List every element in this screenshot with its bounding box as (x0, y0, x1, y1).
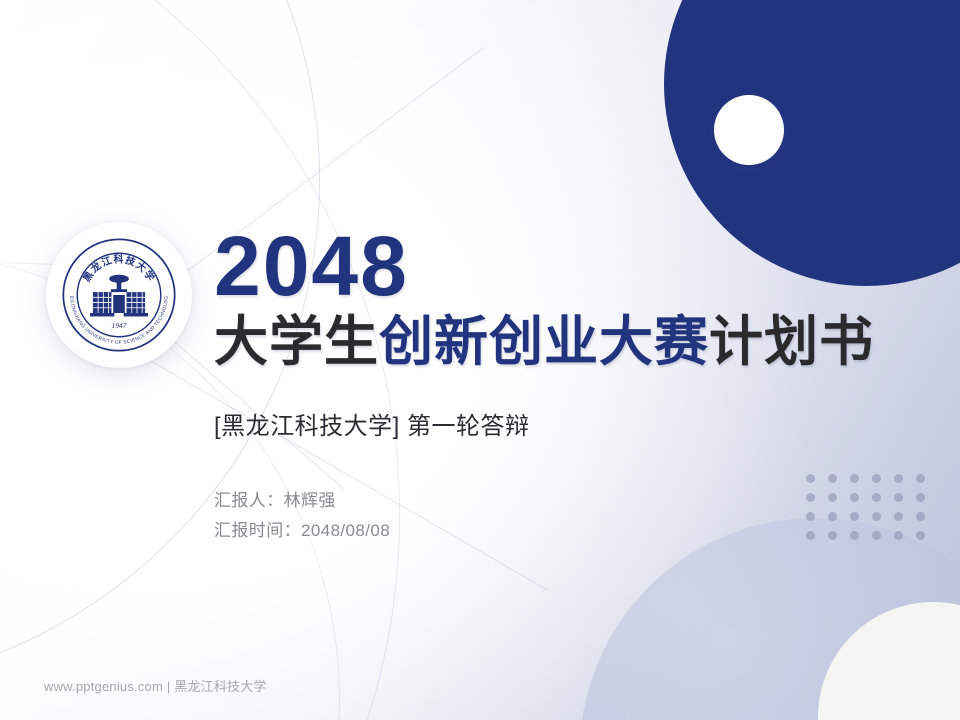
slide-footer: www.pptgenius.com | 黑龙江科技大学 (44, 676, 267, 695)
presentation-slide: 黑龙江科技大学 HEILONGJIANG UNIVERSITY OF SCIEN… (0, 0, 960, 720)
slide-subtitle: [黑龙江科技大学] 第一轮答辩 (214, 406, 530, 441)
presenter-line: 汇报人：林辉强 (214, 486, 390, 516)
slide-meta: 汇报人：林辉强 汇报时间：2048/08/08 (214, 486, 390, 547)
page-title: 大学生创新创业大赛计划书 (214, 312, 874, 372)
title-segment-1: 大学生 (214, 312, 379, 372)
logo-founded-year: 1947 (111, 321, 127, 330)
title-segment-2: 创新创业大赛 (379, 312, 709, 372)
slide-text-content: 2048 大学生创新创业大赛计划书 [黑龙江科技大学] 第一轮答辩 汇报人：林辉… (214, 0, 934, 720)
university-seal-icon: 黑龙江科技大学 HEILONGJIANG UNIVERSITY OF SCIEN… (61, 237, 177, 353)
university-logo: 黑龙江科技大学 HEILONGJIANG UNIVERSITY OF SCIEN… (46, 222, 192, 368)
report-date-line: 汇报时间：2048/08/08 (214, 516, 390, 546)
year-heading: 2048 (214, 224, 409, 308)
title-segment-3: 计划书 (709, 312, 874, 372)
